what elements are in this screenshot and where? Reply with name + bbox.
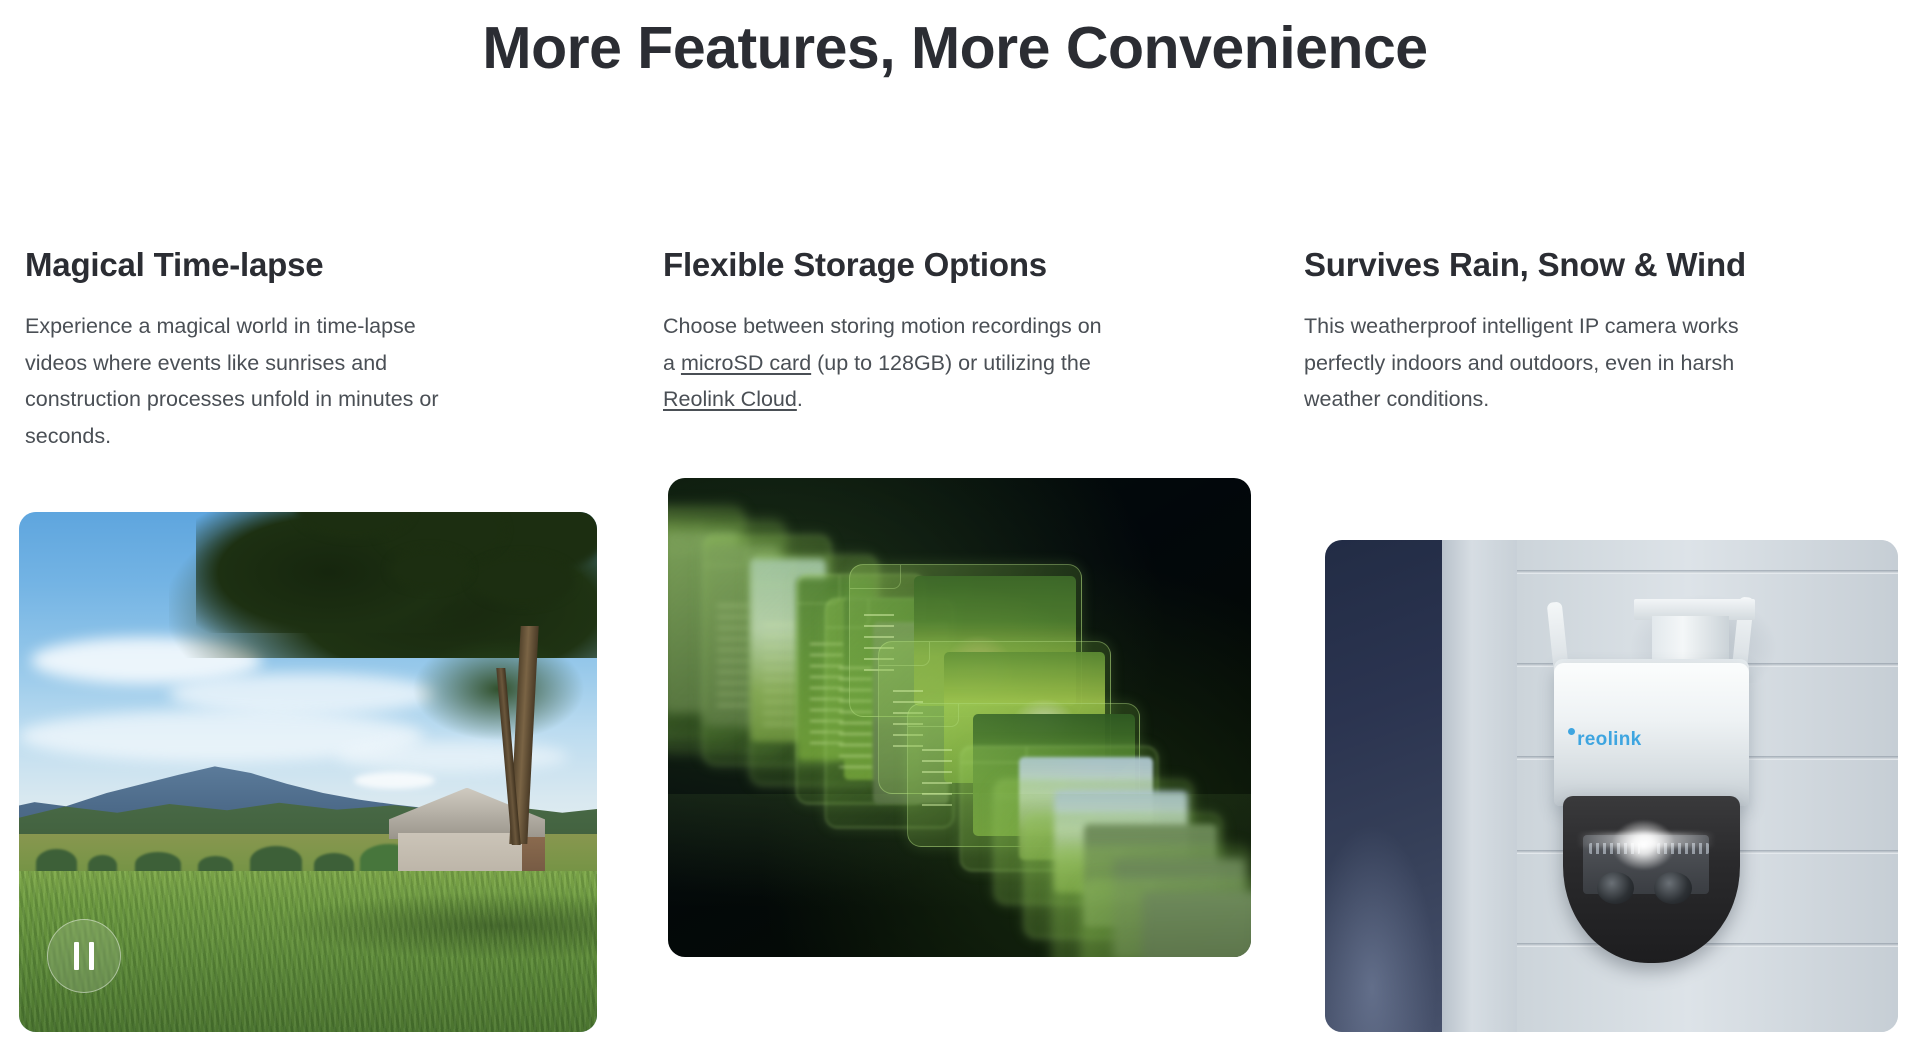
reolink-logo-dot [1568,728,1575,735]
pause-bar-right [89,942,94,970]
reolink-cloud-link[interactable]: Reolink Cloud [663,387,797,411]
cloud [337,741,568,772]
feature-columns: Magical Time-lapse Experience a magical … [0,242,1910,454]
tree-shadow [273,892,597,960]
feature-card-weatherproof: Survives Rain, Snow & Wind This weatherp… [1295,242,1910,454]
storage-cards-scene [668,478,1251,957]
feature-card-storage: Flexible Storage Options Choose between … [640,242,1295,454]
feature-media-camera-image: reolink [1325,540,1898,1032]
camera-scene: reolink [1325,540,1898,1032]
features-section: More Features, More Convenience Magical … [0,0,1910,1056]
feature-heading-storage: Flexible Storage Options [663,242,1223,288]
storage-text-part-3: . [797,387,803,411]
camera-lens-tele [1654,872,1691,904]
feature-heading-weatherproof: Survives Rain, Snow & Wind [1304,242,1814,288]
feature-body-weatherproof: This weatherproof intelligent IP camera … [1304,308,1774,418]
reolink-brand-logo: reolink [1577,729,1641,751]
dark-wall-panel [1325,540,1442,1032]
cloud [354,772,435,789]
feature-card-time-lapse: Magical Time-lapse Experience a magical … [0,242,640,454]
feature-media-storage-image [668,478,1251,957]
pause-bar-left [74,942,79,970]
feature-body-storage: Choose between storing motion recordings… [663,308,1108,418]
spotlight [1612,820,1675,869]
storage-text-part-2: (up to 128GB) or utilizing the [811,351,1091,375]
pause-button[interactable] [47,919,121,993]
page-title: More Features, More Convenience [0,6,1910,90]
microsd-card-link[interactable]: microSD card [681,351,811,375]
feature-media-time-lapse-video[interactable] [19,512,597,1032]
storage-card [1082,880,1251,957]
cloud [169,673,435,715]
feature-body-time-lapse: Experience a magical world in time-lapse… [25,308,480,454]
wall-trim-board [1442,540,1516,1032]
feature-heading-time-lapse: Magical Time-lapse [25,242,485,288]
